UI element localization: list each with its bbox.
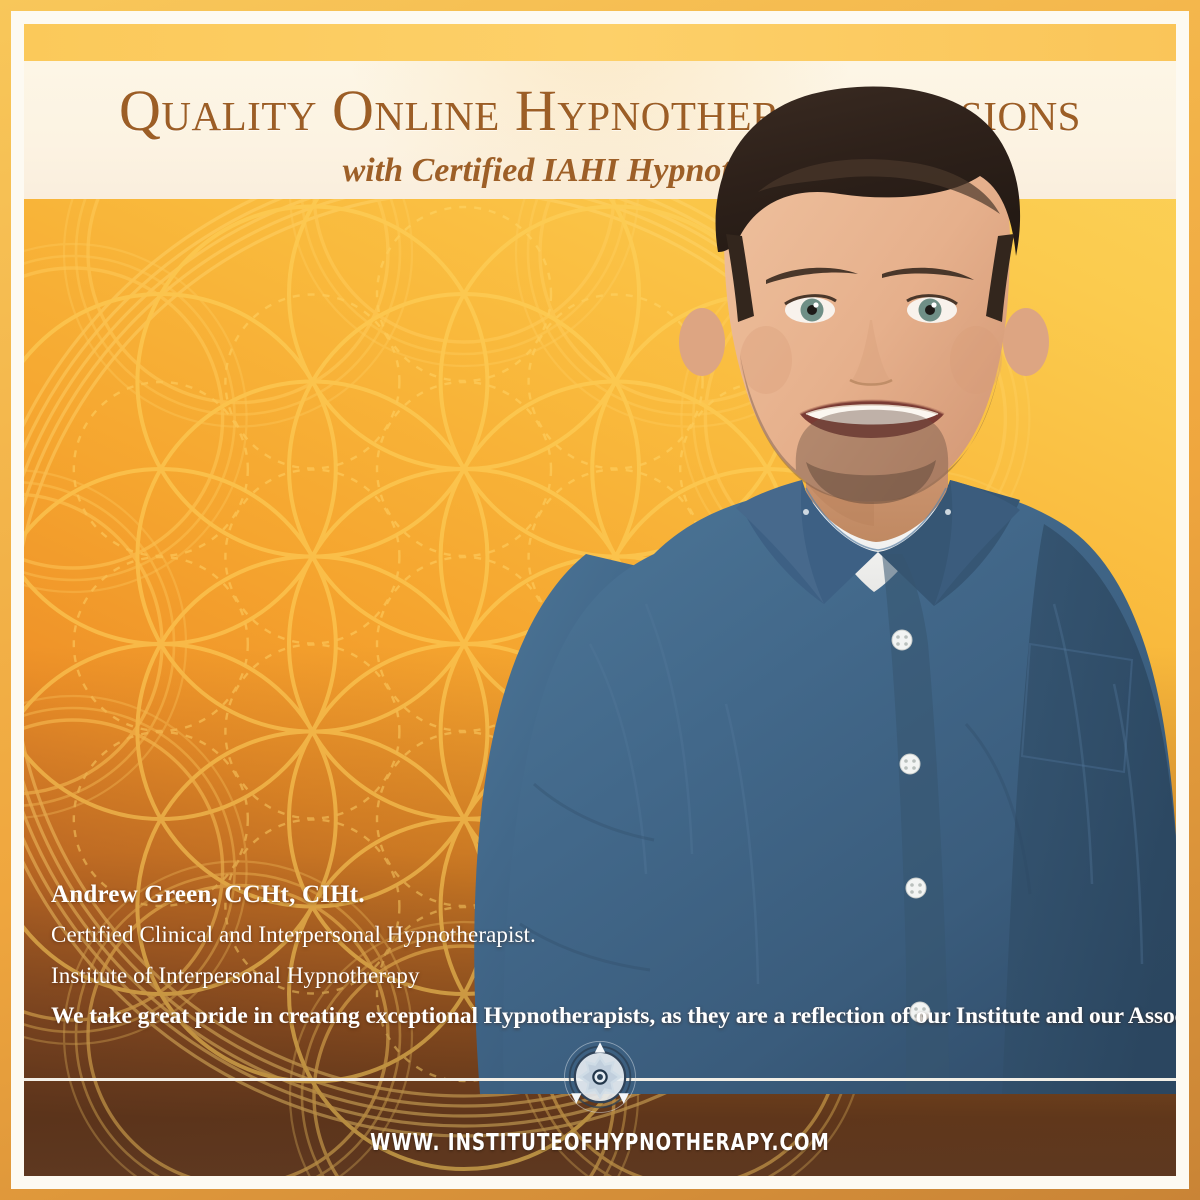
- bio-block: Andrew Green, CCHt, CIHt. Certified Clin…: [51, 882, 1176, 1029]
- header-accent-strip: [24, 24, 1176, 61]
- poster-white-frame: Quality Online Hypnotherapy Sessions wit…: [11, 11, 1189, 1189]
- bio-tagline: We take great pride in creating exceptio…: [51, 1005, 1176, 1029]
- poster-canvas: Quality Online Hypnotherapy Sessions wit…: [24, 24, 1176, 1176]
- poster: Quality Online Hypnotherapy Sessions wit…: [0, 0, 1200, 1200]
- bio-name: Andrew Green, CCHt, CIHt.: [51, 882, 1176, 907]
- footer-website-url[interactable]: WWW. INSTITUTEOFHYPNOTHERAPY.COM: [139, 1130, 1061, 1156]
- bio-organization: Institute of Interpersonal Hypnotherapy: [51, 964, 1176, 987]
- bio-credential: Certified Clinical and Interpersonal Hyp…: [51, 923, 1176, 946]
- institute-mandala-logo: [563, 1040, 637, 1114]
